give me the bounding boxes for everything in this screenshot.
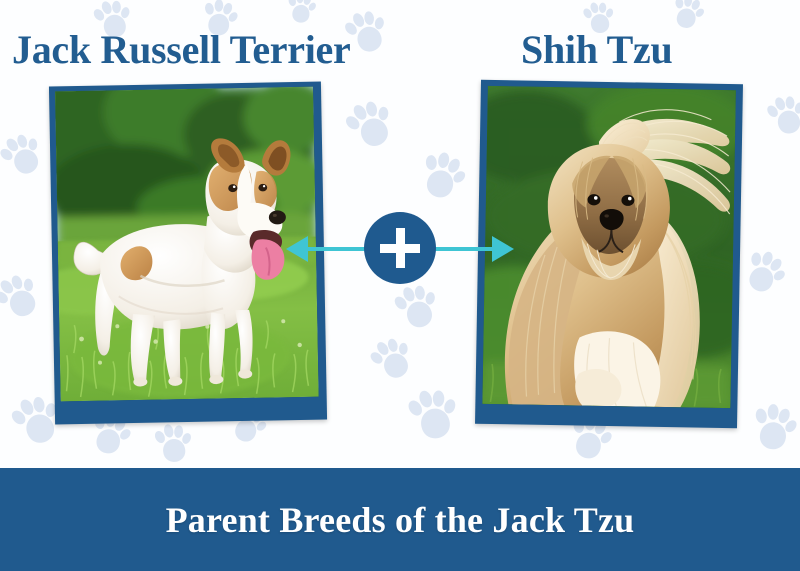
infographic-canvas: Jack Russell Terrier Shih Tzu <box>0 0 800 571</box>
right-breed-title: Shih Tzu <box>521 26 672 73</box>
right-photo-frame <box>475 80 743 429</box>
left-arrow-head <box>286 236 308 262</box>
right-arrow-shaft <box>426 247 496 251</box>
jack-russell-terrier-photo <box>55 87 319 402</box>
left-breed-title: Jack Russell Terrier <box>12 26 350 73</box>
shih-tzu-photo <box>482 86 736 408</box>
caption-text: Parent Breeds of the Jack Tzu <box>0 468 800 571</box>
caption-banner: Parent Breeds of the Jack Tzu <box>0 468 800 571</box>
right-arrow-head <box>492 236 514 262</box>
plus-icon-vertical-bar <box>396 228 405 268</box>
plus-badge <box>364 212 436 284</box>
